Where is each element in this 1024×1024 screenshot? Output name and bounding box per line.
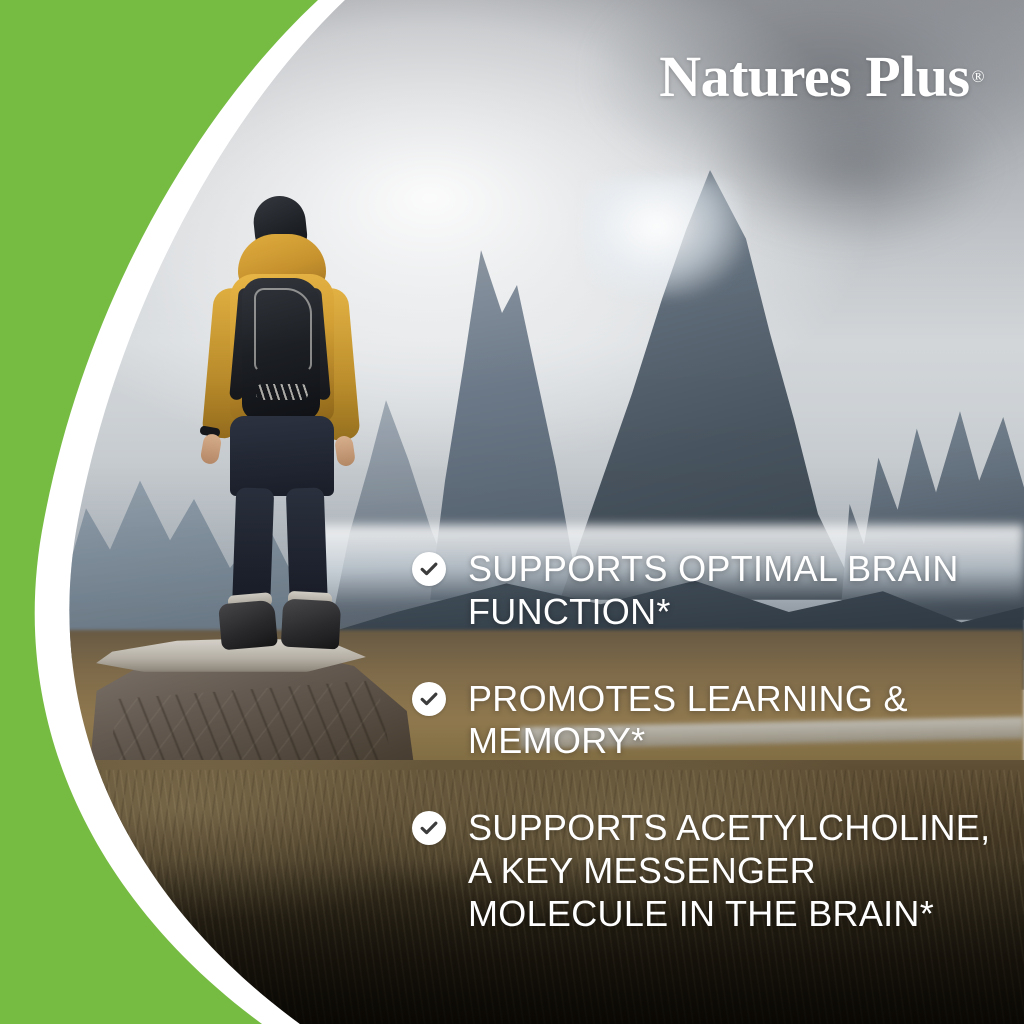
right-hand: [334, 435, 356, 467]
check-circle-icon: [412, 552, 446, 586]
hiker-figure: [178, 196, 378, 656]
summit-snow: [585, 178, 745, 298]
benefits-list: SUPPORTS OPTIMAL BRAIN FUNCTION* PROMOTE…: [412, 548, 1002, 936]
benefit-text: SUPPORTS OPTIMAL BRAIN FUNCTION*: [468, 548, 1002, 634]
left-hiking-boot: [218, 600, 278, 651]
benefit-item: SUPPORTS ACETYLCHOLINE, A KEY MESSENGER …: [412, 807, 1002, 935]
brand-logo-text: Natures Plus: [659, 44, 969, 109]
registered-trademark-icon: ®: [972, 67, 984, 86]
benefit-text: PROMOTES LEARNING & MEMORY*: [468, 678, 1002, 764]
right-hiking-boot: [281, 599, 341, 650]
benefit-item: SUPPORTS OPTIMAL BRAIN FUNCTION*: [412, 548, 1002, 634]
benefit-text: SUPPORTS ACETYLCHOLINE, A KEY MESSENGER …: [468, 807, 1002, 935]
product-marketing-poster: Natures Plus® SUPPORTS OPTIMAL BRAIN FUN…: [0, 0, 1024, 1024]
left-hand: [200, 433, 223, 466]
benefit-item: PROMOTES LEARNING & MEMORY*: [412, 678, 1002, 764]
jeans-hip: [230, 416, 334, 496]
backpack-cord: [254, 288, 312, 372]
backpack-bungee: [256, 384, 308, 400]
brand-logo: Natures Plus®: [659, 48, 984, 106]
check-circle-icon: [412, 682, 446, 716]
check-circle-icon: [412, 811, 446, 845]
